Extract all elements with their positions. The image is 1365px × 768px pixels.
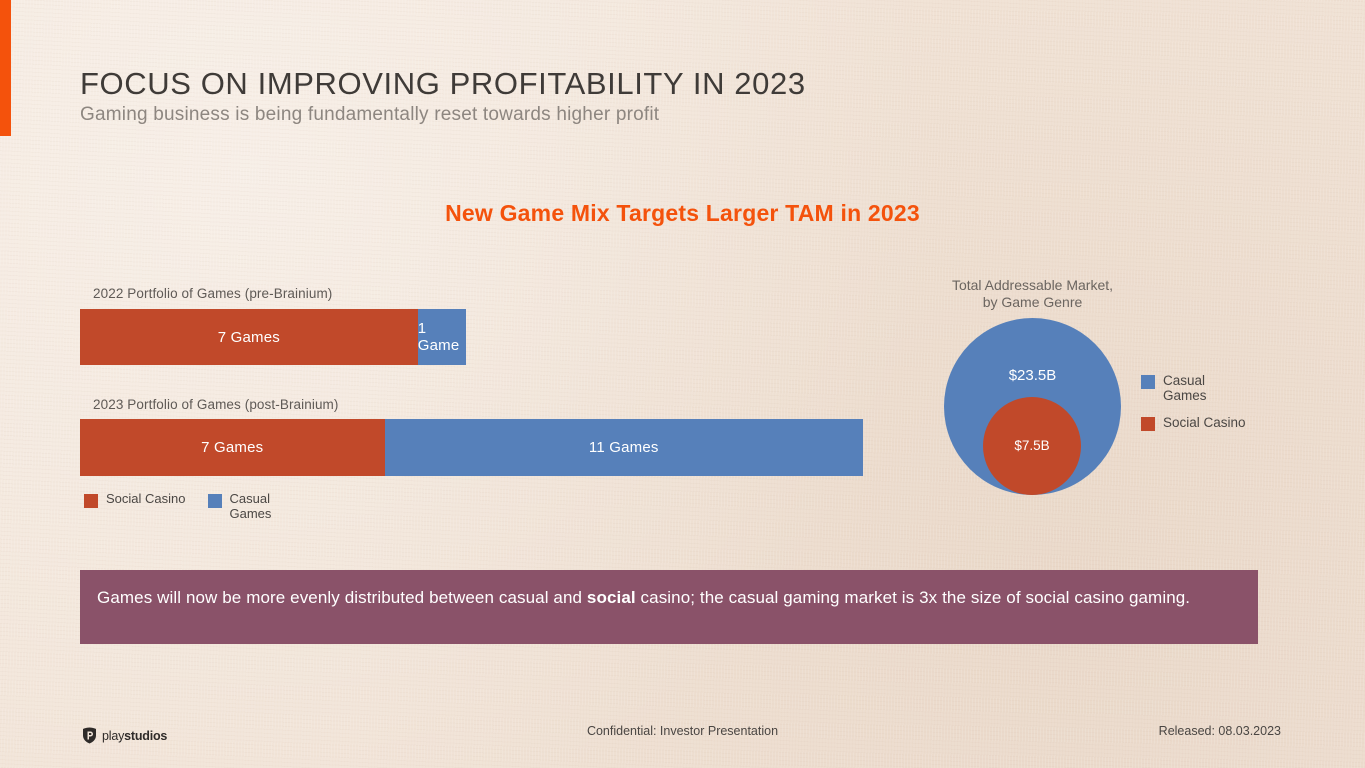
legend-label-casual-games: Casual Games <box>230 492 272 521</box>
bar-chart-legend: Social Casino Casual Games <box>84 492 271 521</box>
tam-value-casual-games: $23.5B <box>944 367 1121 384</box>
legend-label-social-casino: Social Casino <box>106 492 186 507</box>
tam-legend-label-social-casino: Social Casino <box>1163 415 1246 430</box>
tam-legend-item-social-casino: Social Casino <box>1141 415 1246 431</box>
callout-text-after: casino; the casual gaming market is 3x t… <box>636 588 1190 607</box>
tam-legend-swatch-icon-casual-games <box>1141 375 1155 389</box>
bar-segment-social-casino-2022: 7 Games <box>80 309 418 365</box>
bar-chart-2023-title: 2023 Portfolio of Games (post-Brainium) <box>93 397 339 412</box>
bar-chart-2022: 7 Games 1 Game <box>80 309 466 365</box>
legend-swatch-icon-social-casino <box>84 494 98 508</box>
tam-legend-label-casual-games: Casual Games <box>1163 373 1207 403</box>
bar-chart-2023: 7 Games 11 Games <box>80 419 863 476</box>
callout-text-before: Games will now be more evenly distribute… <box>97 588 587 607</box>
tam-chart-legend: Casual Games Social Casino <box>1141 373 1246 443</box>
tam-chart-title: Total Addressable Market, by Game Genre <box>920 277 1145 311</box>
bar-segment-social-casino-2023: 7 Games <box>80 419 385 476</box>
page-subtitle: Gaming business is being fundamentally r… <box>80 104 659 126</box>
legend-swatch-icon-casual-games <box>208 494 222 508</box>
accent-bar <box>0 0 11 136</box>
legend-item-social-casino: Social Casino <box>84 492 186 508</box>
legend-item-casual-games: Casual Games <box>208 492 272 521</box>
tam-legend-item-casual-games: Casual Games <box>1141 373 1246 403</box>
callout-bold-word: social <box>587 588 636 607</box>
callout-box: Games will now be more evenly distribute… <box>80 570 1258 644</box>
slide-canvas: FOCUS ON IMPROVING PROFITABILITY IN 2023… <box>0 0 1365 768</box>
footer-release-date: Released: 08.03.2023 <box>1159 724 1281 738</box>
page-title: FOCUS ON IMPROVING PROFITABILITY IN 2023 <box>80 66 806 102</box>
tam-legend-swatch-icon-social-casino <box>1141 417 1155 431</box>
section-headline: New Game Mix Targets Larger TAM in 2023 <box>0 200 1365 227</box>
bar-segment-casual-games-2022: 1 Game <box>418 309 466 365</box>
bar-chart-2022-title: 2022 Portfolio of Games (pre-Brainium) <box>93 286 332 301</box>
bar-segment-casual-games-2023: 11 Games <box>385 419 864 476</box>
tam-value-social-casino: $7.5B <box>983 438 1081 453</box>
